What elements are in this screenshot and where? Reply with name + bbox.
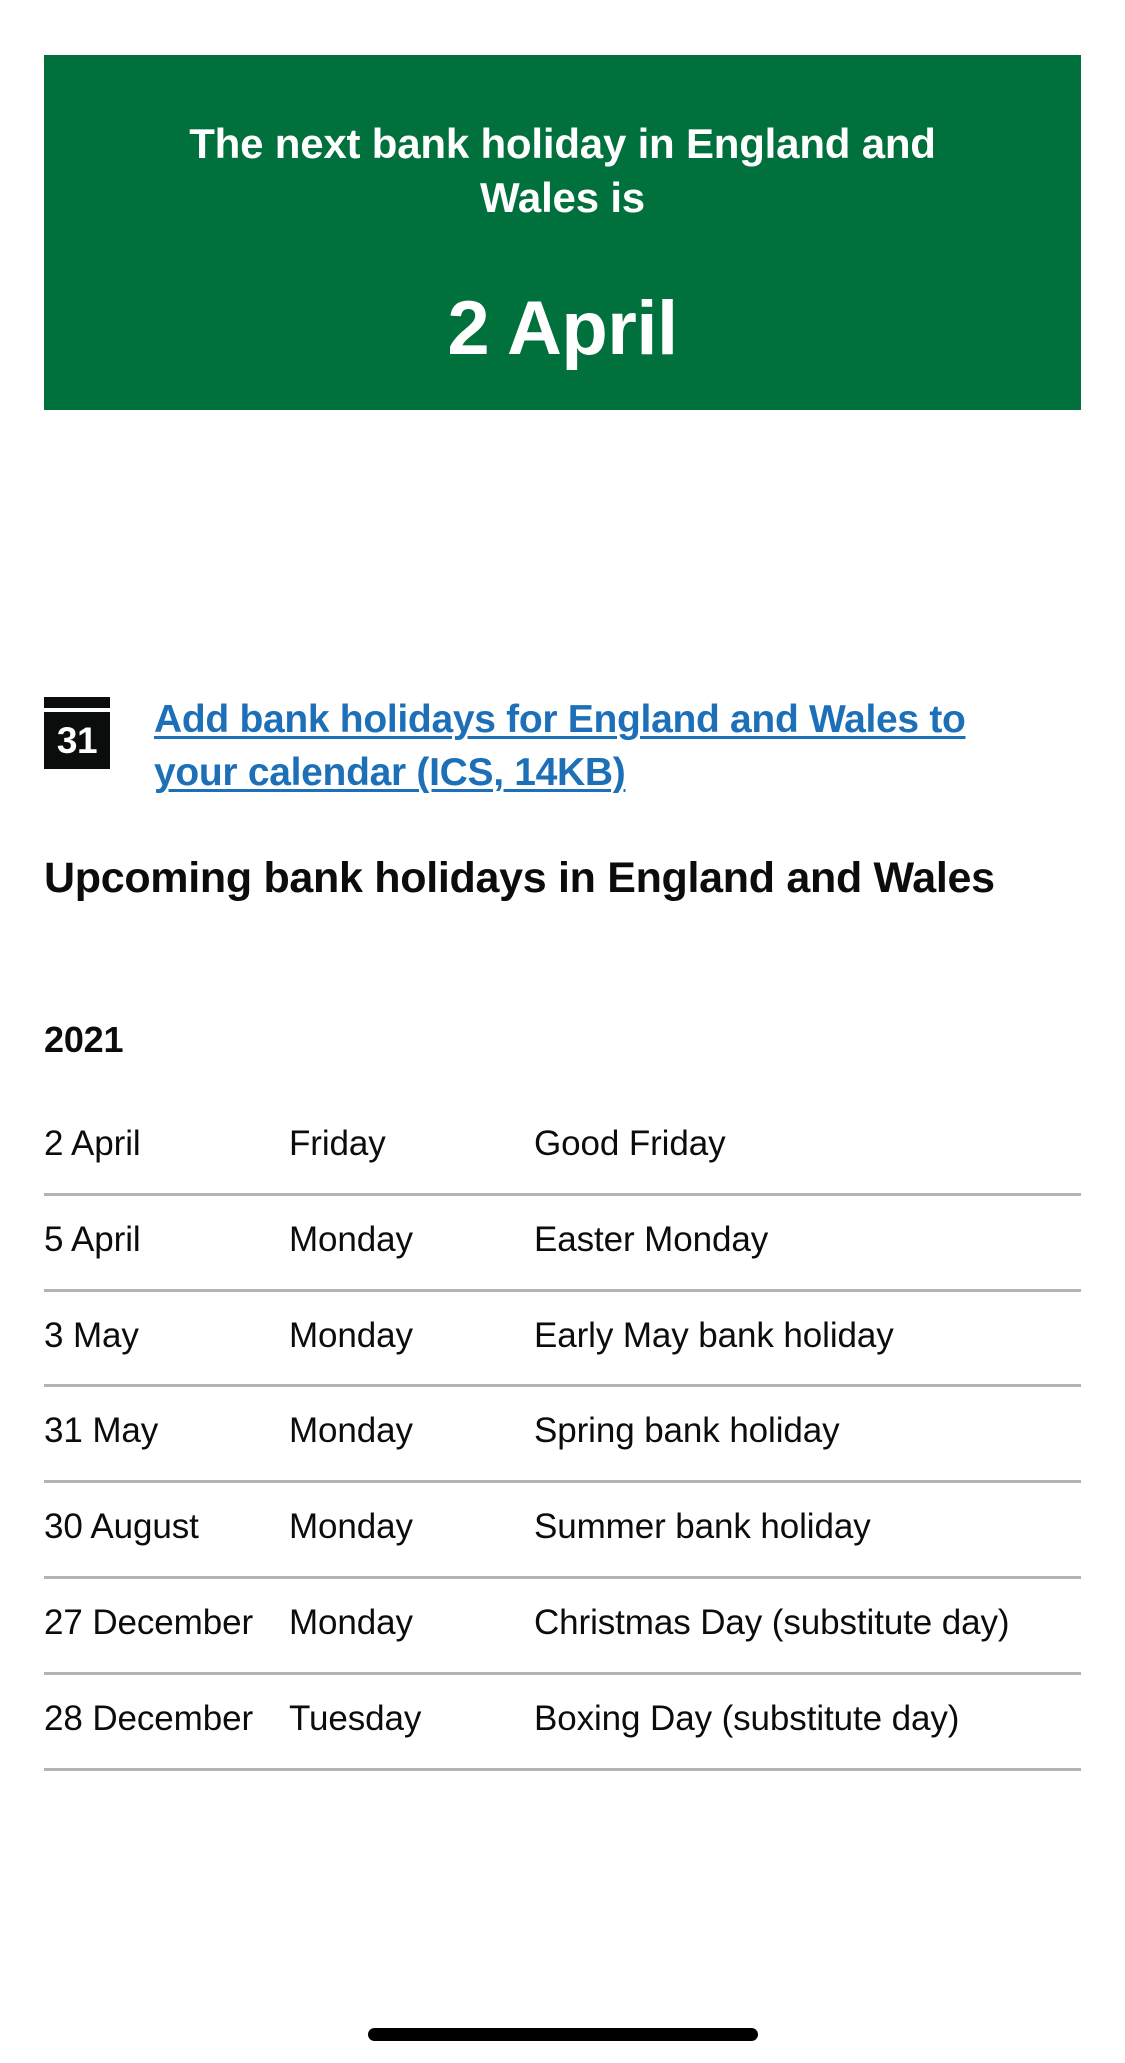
table-row: 31 May Monday Spring bank holiday	[44, 1386, 1081, 1482]
row-date: 31 May	[44, 1386, 289, 1482]
row-weekday: Monday	[289, 1577, 534, 1673]
bank-holidays-table: 2 April Friday Good Friday 5 April Monda…	[44, 1122, 1081, 1771]
row-weekday: Monday	[289, 1290, 534, 1386]
row-weekday: Monday	[289, 1194, 534, 1290]
next-holiday-banner: The next bank holiday in England and Wal…	[44, 55, 1081, 410]
calendar-icon: 31	[44, 697, 110, 769]
banner-date: 2 April	[84, 288, 1041, 370]
row-date: 30 August	[44, 1482, 289, 1578]
banner-holiday-name: Good Friday	[84, 422, 1041, 472]
calendar-icon-header-bar	[44, 697, 110, 708]
row-date: 2 April	[44, 1122, 289, 1194]
row-holiday: Summer bank holiday	[534, 1482, 1081, 1578]
add-to-calendar-link[interactable]: Add bank holidays for England and Wales …	[154, 693, 1034, 799]
row-weekday: Friday	[289, 1122, 534, 1194]
row-holiday: Spring bank holiday	[534, 1386, 1081, 1482]
table-row: 5 April Monday Easter Monday	[44, 1194, 1081, 1290]
row-weekday: Tuesday	[289, 1673, 534, 1769]
row-holiday: Easter Monday	[534, 1194, 1081, 1290]
table-row: 30 August Monday Summer bank holiday	[44, 1482, 1081, 1578]
calendar-icon-day: 31	[44, 712, 110, 769]
row-holiday: Christmas Day (substitute day)	[534, 1577, 1081, 1673]
row-weekday: Monday	[289, 1482, 534, 1578]
year-heading: 2021	[44, 1018, 123, 1061]
banner-intro-text: The next bank holiday in England and Wal…	[84, 117, 1041, 225]
row-holiday: Early May bank holiday	[534, 1290, 1081, 1386]
table-row: 2 April Friday Good Friday	[44, 1122, 1081, 1194]
row-date: 3 May	[44, 1290, 289, 1386]
row-weekday: Monday	[289, 1386, 534, 1482]
row-holiday: Good Friday	[534, 1122, 1081, 1194]
table-row: 28 December Tuesday Boxing Day (substitu…	[44, 1673, 1081, 1769]
home-indicator[interactable]	[368, 2028, 758, 2041]
row-date: 27 December	[44, 1577, 289, 1673]
row-date: 5 April	[44, 1194, 289, 1290]
row-date: 28 December	[44, 1673, 289, 1769]
page-title: Upcoming bank holidays in England and Wa…	[44, 850, 1044, 907]
ics-download-row: 31 Add bank holidays for England and Wal…	[44, 693, 1084, 799]
bank-holidays-page: The next bank holiday in England and Wal…	[0, 0, 1125, 2063]
bank-holidays-table-body: 2 April Friday Good Friday 5 April Monda…	[44, 1122, 1081, 1769]
row-holiday: Boxing Day (substitute day)	[534, 1673, 1081, 1769]
table-row: 3 May Monday Early May bank holiday	[44, 1290, 1081, 1386]
table-row: 27 December Monday Christmas Day (substi…	[44, 1577, 1081, 1673]
